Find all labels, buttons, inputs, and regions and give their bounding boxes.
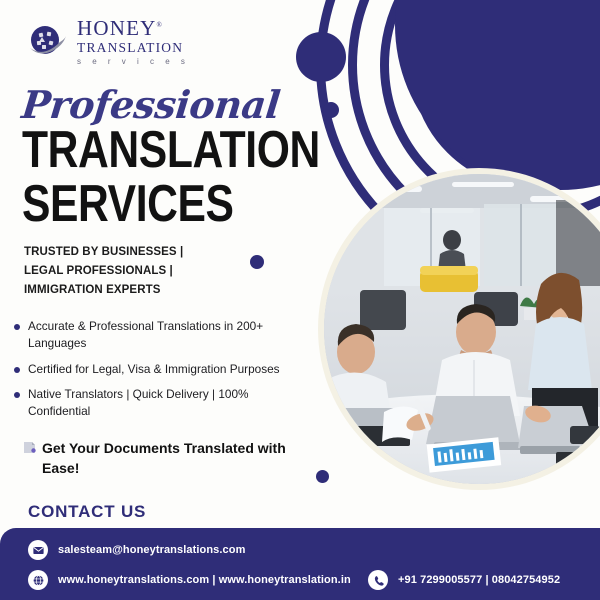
headline-line-1: TRANSLATION [22,128,320,174]
feature-bullet-list: Accurate & Professional Translations in … [14,318,314,429]
bullet-dot-icon [14,324,20,330]
trusted-line: LEGAL PROFESSIONALS | [24,262,183,281]
list-item: Accurate & Professional Translations in … [14,318,314,352]
decorative-dot-mid [250,255,264,269]
contact-email-row[interactable]: salesteam@honeytranslations.com [28,540,245,560]
list-item: Certified for Legal, Visa & Immigration … [14,361,314,378]
decorative-dot-large [296,32,346,82]
contact-phone-row[interactable]: +91 7299005577 | 08042754952 [368,570,560,590]
brand-line3: s e r v i c e s [77,58,189,66]
brand-name: HONEY® [77,18,163,39]
trusted-line: TRUSTED BY BUSINESSES | [24,243,183,262]
contact-phone-text: +91 7299005577 | 08042754952 [398,574,560,586]
globe-sphere-icon [26,21,68,63]
contact-us-heading: CONTACT US [28,502,146,522]
bullet-text: Native Translators | Quick Delivery | 10… [28,386,314,420]
bullet-text: Certified for Legal, Visa & Immigration … [28,361,280,378]
trusted-by-text: TRUSTED BY BUSINESSES | LEGAL PROFESSION… [24,243,183,300]
registered-mark: ® [157,21,164,29]
headline-line-2: SERVICES [22,182,234,228]
page-document-emoji [22,440,37,455]
photo-ring [318,168,600,490]
navy-blob-decoration [395,0,600,190]
bullet-dot-icon [14,392,20,398]
bullet-text: Accurate & Professional Translations in … [28,318,314,352]
decorative-dot-lower [316,470,329,483]
brand-line2: TRANSLATION [77,41,189,55]
phone-icon [368,570,388,590]
cta-text: Get Your Documents Translated with Ease! [22,438,300,479]
contact-website-text: www.honeytranslations.com | www.honeytra… [58,574,351,586]
contact-website-row[interactable]: www.honeytranslations.com | www.honeytra… [28,570,351,590]
flyer-canvas: HONEY® TRANSLATION s e r v i c e s Profe… [0,0,600,600]
bullet-dot-icon [14,367,20,373]
contact-email-text: salesteam@honeytranslations.com [58,544,245,556]
trusted-line: IMMIGRATION EXPERTS [24,281,183,300]
contact-footer-bar: salesteam@honeytranslations.com www.hone… [0,528,600,600]
brand-logo-text: HONEY® TRANSLATION s e r v i c e s [77,18,189,66]
decorative-dot-small [323,102,339,118]
business-team-meeting-photo [324,174,600,484]
brand-logo[interactable]: HONEY® TRANSLATION s e r v i c e s [26,18,189,66]
globe-icon [28,570,48,590]
list-item: Native Translators | Quick Delivery | 10… [14,386,314,420]
cta-label: Get Your Documents Translated with Ease! [42,438,300,479]
envelope-icon [28,540,48,560]
